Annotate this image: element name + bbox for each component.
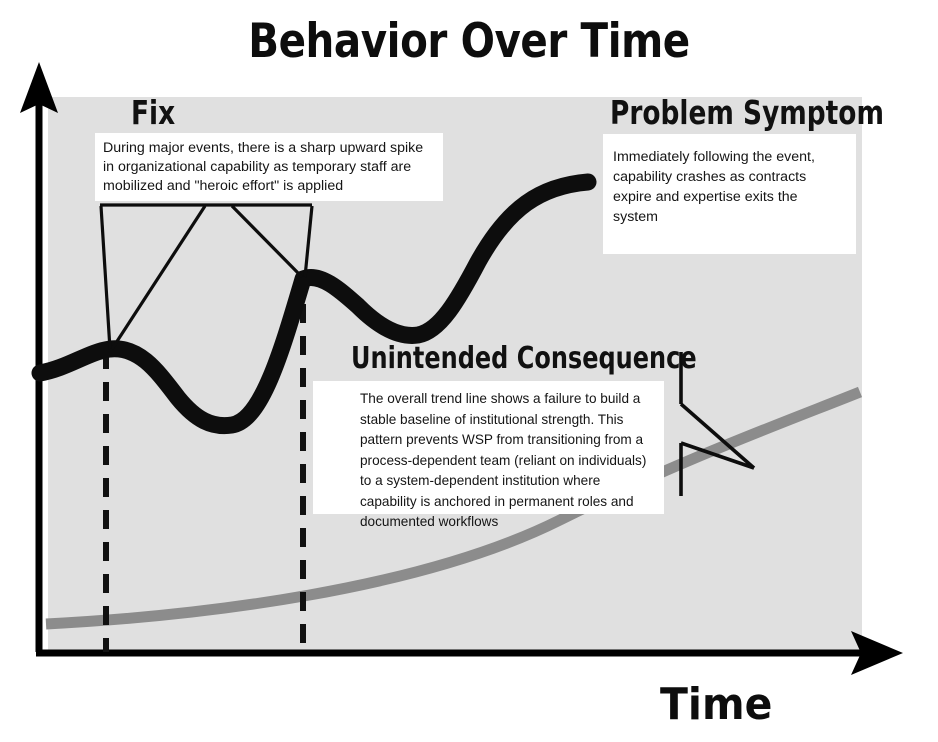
annotation-body-fix: During major events, there is a sharp up…	[95, 133, 443, 201]
x-axis-label: Time	[660, 679, 772, 730]
annotation-heading-problem-symptom: Problem Symptom	[610, 93, 884, 132]
annotation-body-unintended-consequence: The overall trend line shows a failure t…	[313, 381, 664, 514]
annotation-body-problem-symptom: Immediately following the event, capabil…	[603, 134, 856, 254]
annotation-heading-fix: Fix	[131, 93, 175, 132]
page-title: Behavior Over Time	[66, 14, 873, 69]
annotation-heading-unintended-consequence: Unintended Consequence	[351, 341, 697, 376]
